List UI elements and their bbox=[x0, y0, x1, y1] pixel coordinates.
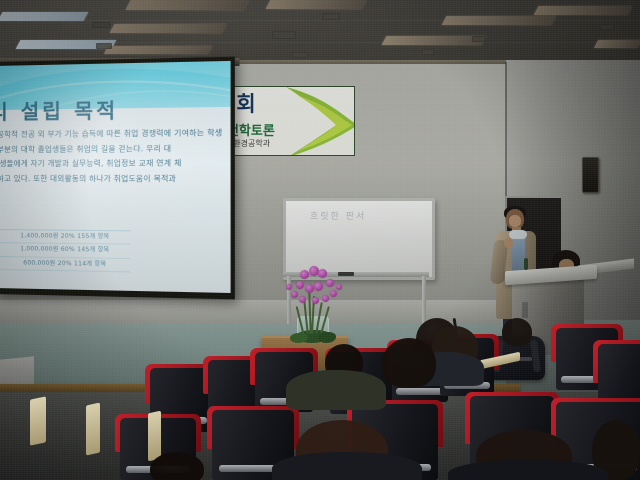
orchid-bloom bbox=[296, 281, 304, 289]
lectern-panel bbox=[522, 302, 528, 318]
orchid-bloom bbox=[299, 296, 306, 303]
fluorescent-light-icon bbox=[125, 0, 248, 10]
orchid-bloom bbox=[322, 295, 329, 302]
slide-body-text: 학생들의 공학적 전공 외 부가 기능 습득에 따른 취업 경쟁력에 기여하는 … bbox=[0, 126, 231, 187]
audience-member-shoulders bbox=[272, 452, 422, 480]
presenter-face bbox=[509, 215, 521, 227]
orchid-bloom bbox=[300, 270, 309, 279]
air-vent-icon bbox=[422, 49, 434, 55]
presentation-slide: 아리 설립 목적 학생들의 공학적 전공 외 부가 기능 습득에 따른 취업 경… bbox=[0, 61, 231, 293]
air-vent-icon bbox=[472, 36, 486, 42]
slide-title: 아리 설립 목적 bbox=[0, 94, 118, 125]
audience-member-shoulders bbox=[448, 460, 608, 480]
fluorescent-light-icon bbox=[266, 0, 367, 9]
orchid-bloom bbox=[312, 297, 319, 304]
slide-data-table: 1,400,000원 20% 155개 항목1,000,000원 60% 145… bbox=[0, 229, 130, 272]
fluorescent-light-icon bbox=[442, 16, 557, 25]
lecture-hall-photo: 수회 공전학토론 학교 환경공학과 아리 설립 목적 학생들의 공학적 전공 외… bbox=[0, 0, 640, 480]
air-vent-icon bbox=[322, 13, 340, 20]
marker-icon bbox=[338, 272, 354, 276]
presenter-scarf bbox=[509, 230, 527, 239]
orchid-bloom bbox=[305, 284, 314, 293]
slide-body-line: 학생들의 공학적 전공 외 부가 기능 습득에 따른 취업 경쟁력에 기여하는 … bbox=[0, 126, 231, 143]
whiteboard-writing: 흐릿한 판서 bbox=[310, 209, 366, 222]
orchid-bloom bbox=[336, 284, 342, 290]
wall-speaker-icon bbox=[582, 157, 599, 193]
fluorescent-light-icon bbox=[534, 6, 633, 15]
fluorescent-light-icon bbox=[382, 36, 487, 45]
fluorescent-light-icon bbox=[104, 46, 212, 54]
fluorescent-light-icon bbox=[594, 40, 640, 48]
orchid-bloom bbox=[291, 291, 298, 298]
microphone-icon bbox=[524, 258, 528, 270]
orchid-bloom bbox=[330, 290, 337, 297]
air-vent-icon bbox=[272, 31, 296, 39]
orchid-bloom bbox=[286, 284, 292, 290]
air-vent-icon bbox=[96, 43, 112, 49]
fluorescent-light-icon bbox=[110, 24, 227, 33]
air-vent-icon bbox=[92, 22, 110, 28]
chevron-graphic bbox=[282, 86, 355, 156]
orchid-bloom bbox=[318, 269, 327, 278]
audience-member-shoulders bbox=[286, 370, 386, 410]
slide-table-row: 600,000원 20% 114개 항목 bbox=[0, 257, 130, 273]
orchid-bloom bbox=[326, 279, 334, 287]
slide-body-line: 으로 운영하고 있다. 또한 대외활동의 하나가 취업도움이 목적과 bbox=[0, 172, 231, 187]
slide-body-line: 하고는 대부분의 대학 졸업생들은 취업의 길을 걷는다. 우리 대 bbox=[0, 141, 231, 157]
air-vent-icon bbox=[292, 52, 308, 58]
seat-armrest bbox=[148, 411, 161, 462]
orchid-bloom bbox=[314, 282, 323, 291]
seat-armrest bbox=[86, 403, 100, 456]
air-vent-icon bbox=[600, 24, 614, 30]
presenter-hand bbox=[504, 238, 513, 248]
projection-screen: 아리 설립 목적 학생들의 공학적 전공 외 부가 기능 습득에 따른 취업 경… bbox=[0, 57, 235, 300]
seat-chrome-bar bbox=[396, 388, 443, 395]
audience-member-head bbox=[382, 338, 436, 388]
slide-body-line: 행 및 졸업생들에게 자기 개발과 실무능력, 취업정보 교재 연계 체 bbox=[0, 156, 231, 172]
audience-member-head bbox=[502, 318, 532, 346]
audience-member-head bbox=[150, 452, 204, 480]
seat-armrest bbox=[30, 396, 46, 445]
whiteboard: 흐릿한 판서 bbox=[283, 198, 435, 280]
fluorescent-light-icon bbox=[0, 12, 88, 21]
